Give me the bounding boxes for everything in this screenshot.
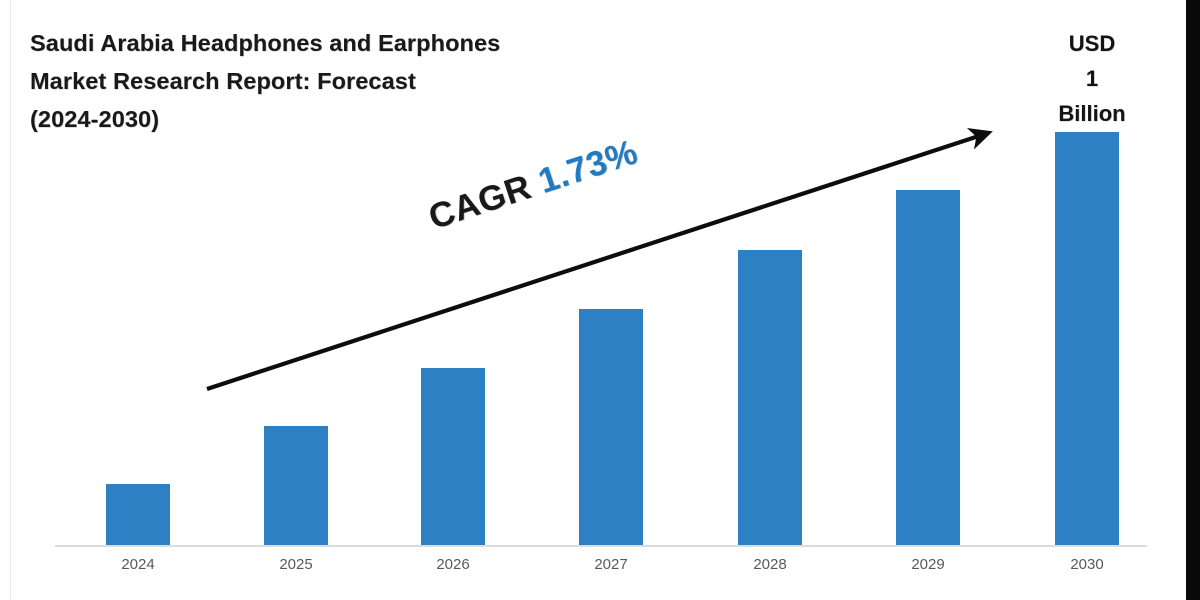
x-tick-label-2026: 2026 [398,556,508,573]
plot-area: 2024 2025 2026 2027 2028 2029 2030 [0,0,1200,600]
right-edge-band [1186,0,1200,600]
bar-2027 [579,309,643,545]
x-tick-label-2025: 2025 [241,556,351,573]
bar-2026 [421,368,485,545]
bar-2029 [896,190,960,545]
chart-canvas: Saudi Arabia Headphones and Earphones Ma… [0,0,1200,600]
x-tick-label-2029: 2029 [873,556,983,573]
x-tick-label-2028: 2028 [715,556,825,573]
bar-2024 [106,484,170,545]
x-tick-label-2024: 2024 [83,556,193,573]
bar-2025 [264,426,328,545]
bar-2028 [738,250,802,545]
x-tick-label-2030: 2030 [1032,556,1142,573]
x-tick-label-2027: 2027 [556,556,666,573]
x-axis-line [55,545,1147,547]
bar-2030 [1055,132,1119,545]
